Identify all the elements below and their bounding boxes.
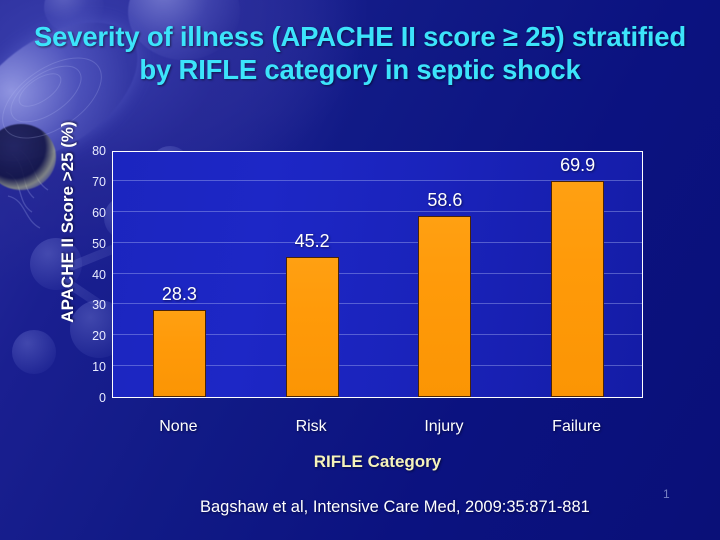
bar[interactable] (418, 216, 471, 397)
bar[interactable] (286, 257, 339, 397)
x-axis-tick-label: None (118, 418, 238, 436)
x-axis-tick-label: Risk (251, 418, 371, 436)
x-axis-ticks: NoneRiskInjuryFailure (112, 418, 643, 442)
y-axis-tick-label: 80 (76, 144, 106, 158)
bar[interactable] (551, 181, 604, 397)
bar[interactable] (153, 310, 206, 397)
y-axis-tick-label: 30 (76, 298, 106, 312)
citation-text: Bagshaw et al, Intensive Care Med, 2009:… (200, 498, 590, 517)
x-axis-tick-label: Injury (384, 418, 504, 436)
y-axis-tick-label: 60 (76, 206, 106, 220)
bar-value-label: 28.3 (149, 284, 209, 305)
y-axis-tick-label: 10 (76, 360, 106, 374)
bar-value-label: 58.6 (415, 190, 475, 211)
plot-area: 28.345.258.669.9 (112, 151, 643, 398)
bar-value-label: 69.9 (548, 155, 608, 176)
bar-value-label: 45.2 (282, 231, 342, 252)
y-axis-tick-label: 0 (76, 391, 106, 405)
slide-number: 1 (663, 487, 670, 501)
presentation-slide: Severity of illness (APACHE II score ≥ 2… (0, 0, 720, 540)
y-axis-tick-label: 70 (76, 175, 106, 189)
bar-chart: APACHE II Score >25 (%) 0102030405060708… (0, 0, 720, 540)
x-axis-label: RIFLE Category (112, 452, 643, 472)
y-axis-tick-label: 20 (76, 329, 106, 343)
y-axis-tick-label: 50 (76, 237, 106, 251)
x-axis-tick-label: Failure (517, 418, 637, 436)
y-axis-tick-label: 40 (76, 268, 106, 282)
y-axis-ticks: 01020304050607080 (70, 151, 106, 398)
